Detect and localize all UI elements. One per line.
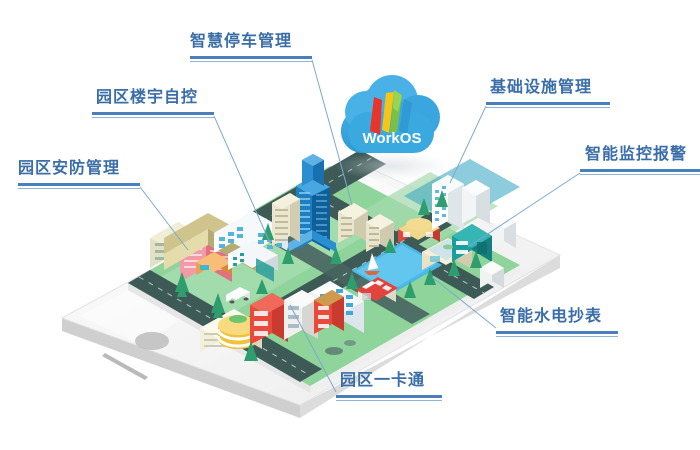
underline-thin <box>190 61 312 62</box>
underline-thick <box>336 395 442 398</box>
label-park-security[interactable]: 园区安防管理 <box>18 160 120 178</box>
home-button <box>135 332 169 350</box>
underline-thin <box>496 336 618 337</box>
underline-park-security <box>18 183 140 189</box>
underline-thin <box>486 107 610 108</box>
underline-building-automation <box>92 112 214 118</box>
underline-thin <box>336 400 442 401</box>
label-building-automation[interactable]: 园区楼宇自控 <box>96 89 198 107</box>
underline-smart-parking <box>190 56 312 62</box>
underline-thick <box>486 102 610 105</box>
building-cream-stepped <box>272 193 300 246</box>
underline-thick <box>92 112 214 115</box>
underline-thick <box>18 183 140 186</box>
underline-infrastructure <box>486 102 610 108</box>
label-smart-parking[interactable]: 智慧停车管理 <box>190 33 292 51</box>
label-infrastructure[interactable]: 基础设施管理 <box>490 79 592 97</box>
illustration-canvas: WorkOS 园区安防管理园区楼宇自控智慧停车管理基础设施管理智能监控报警智能水… <box>0 0 700 450</box>
underline-utility-metering <box>496 331 618 337</box>
underline-thick <box>496 331 618 334</box>
workos-cloud-logo: WorkOS <box>334 75 450 180</box>
underline-thin <box>92 117 214 118</box>
underline-thick <box>580 169 700 172</box>
label-one-card-pass[interactable]: 园区一卡通 <box>340 372 425 390</box>
underline-thin <box>580 174 700 175</box>
workos-logo-text: WorkOS <box>363 130 422 147</box>
underline-one-card-pass <box>336 395 442 401</box>
underline-smart-surveillance <box>580 169 700 175</box>
underline-thick <box>190 56 312 59</box>
label-smart-surveillance[interactable]: 智能监控报警 <box>585 146 687 164</box>
underline-thin <box>18 188 140 189</box>
label-utility-metering[interactable]: 智能水电抄表 <box>500 308 602 326</box>
